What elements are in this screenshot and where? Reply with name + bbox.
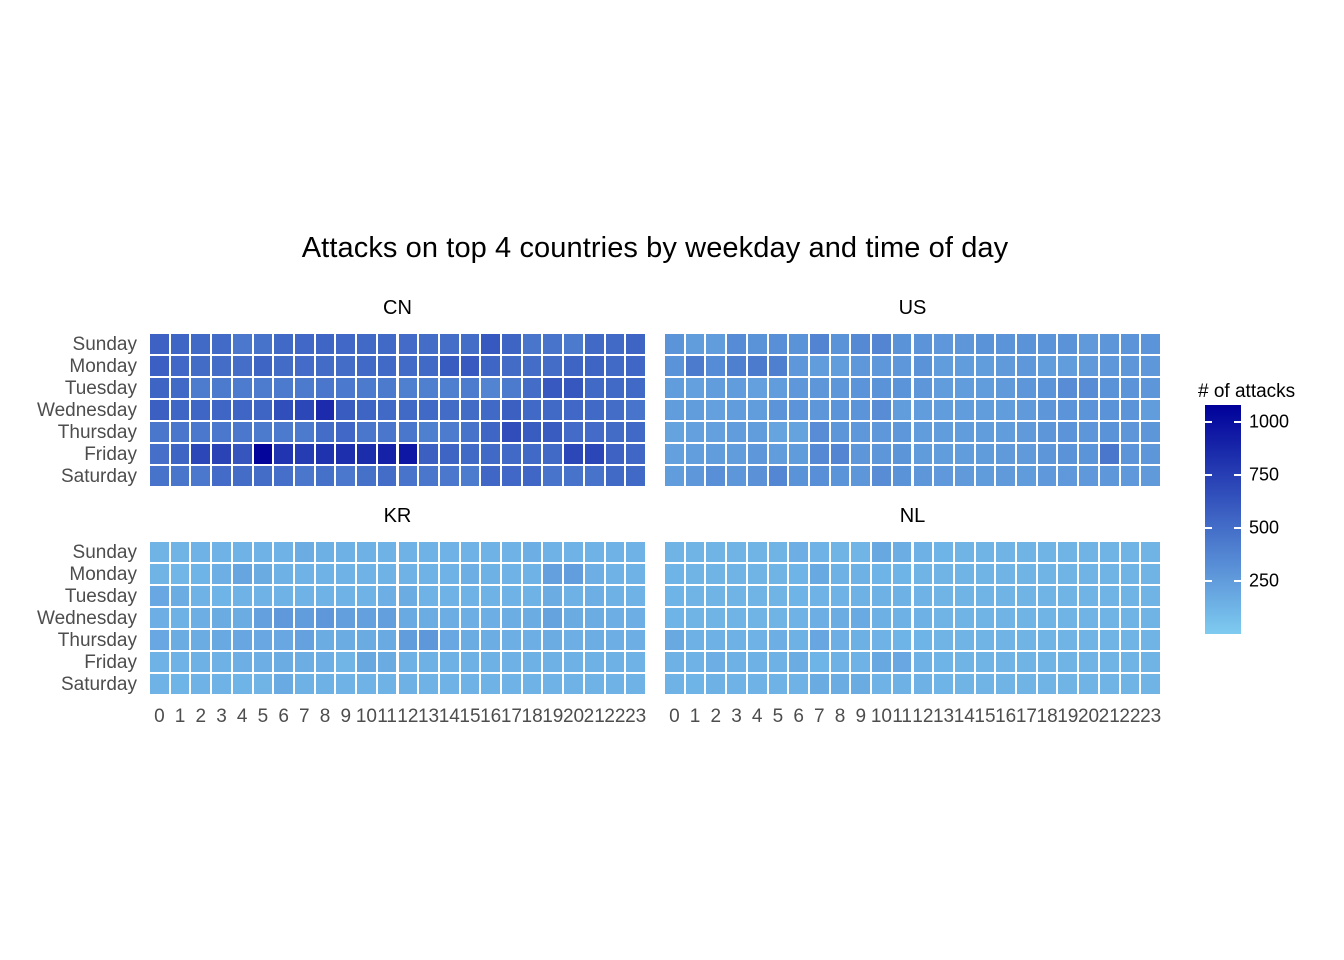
heatmap-row [149, 607, 646, 629]
heatmap-cell [685, 377, 706, 399]
heatmap-cell [315, 673, 336, 695]
heatmap-cell [418, 443, 439, 465]
heatmap-cell [542, 541, 563, 563]
heatmap-cell [501, 443, 522, 465]
heatmap-cell [253, 563, 274, 585]
heatmap-cell [377, 563, 398, 585]
heatmap-cell [190, 355, 211, 377]
heatmap-row [149, 673, 646, 695]
heatmap-cell [788, 421, 809, 443]
heatmap-cell [398, 333, 419, 355]
heatmap-cell [211, 673, 232, 695]
heatmap-cell [377, 607, 398, 629]
heatmap-cell [747, 333, 768, 355]
heatmap-cell [315, 651, 336, 673]
heatmap-cell [995, 377, 1016, 399]
heatmap-cell [685, 585, 706, 607]
heatmap-cell [149, 421, 170, 443]
heatmap-cell [1120, 673, 1141, 695]
heatmap-cell [871, 465, 892, 487]
heatmap-row [149, 651, 646, 673]
heatmap-cell [253, 541, 274, 563]
heatmap-cell [1120, 333, 1141, 355]
heatmap-cell [149, 333, 170, 355]
heatmap-cell [605, 355, 626, 377]
heatmap-cell [584, 377, 605, 399]
heatmap-cell [294, 629, 315, 651]
x-axis-label-hour-23: 23 [1130, 707, 1171, 726]
legend-tick-mark [1234, 474, 1241, 476]
heatmap-cell [1120, 465, 1141, 487]
heatmap-cell [542, 443, 563, 465]
heatmap-cell [747, 465, 768, 487]
heatmap-cell [1078, 607, 1099, 629]
heatmap-cell [1120, 399, 1141, 421]
heatmap-cell [995, 421, 1016, 443]
heatmap-row [664, 607, 1161, 629]
heatmap-cell [933, 421, 954, 443]
heatmap-cell [954, 541, 975, 563]
heatmap-cell [1099, 629, 1120, 651]
heatmap-cell [685, 421, 706, 443]
legend-tick-mark [1234, 580, 1241, 582]
legend-tick-mark [1234, 421, 1241, 423]
heatmap-cell [809, 333, 830, 355]
facet-title-cn: CN [149, 297, 646, 320]
heatmap-cell [913, 333, 934, 355]
heatmap-cell [1099, 651, 1120, 673]
heatmap-cell [726, 585, 747, 607]
heatmap-cell [954, 563, 975, 585]
heatmap-cell [211, 541, 232, 563]
heatmap-cell [542, 399, 563, 421]
heatmap-cell [747, 421, 768, 443]
heatmap-cell [788, 355, 809, 377]
heatmap-cell [418, 585, 439, 607]
heatmap-cell [975, 443, 996, 465]
heatmap-cell [439, 333, 460, 355]
heatmap-cell [625, 629, 646, 651]
heatmap-cell [892, 563, 913, 585]
heatmap-row [664, 541, 1161, 563]
heatmap-cell [913, 563, 934, 585]
heatmap-cell [294, 465, 315, 487]
y-axis-label-friday: Friday [0, 445, 137, 464]
heatmap-cell [625, 563, 646, 585]
heatmap-cell [705, 629, 726, 651]
heatmap-cell [273, 651, 294, 673]
heatmap-row [149, 377, 646, 399]
heatmap-cell [995, 355, 1016, 377]
heatmap-cell [1037, 585, 1058, 607]
heatmap-cell [850, 465, 871, 487]
heatmap-cell [294, 443, 315, 465]
heatmap-cell [850, 563, 871, 585]
heatmap-cell [933, 651, 954, 673]
heatmap-cell [685, 607, 706, 629]
heatmap-cell [975, 651, 996, 673]
heatmap-cell [315, 355, 336, 377]
heatmap-cell [685, 629, 706, 651]
heatmap-cell [501, 563, 522, 585]
heatmap-cell [522, 399, 543, 421]
heatmap-cell [788, 399, 809, 421]
heatmap-cell [253, 673, 274, 695]
heatmap-cell [1078, 443, 1099, 465]
heatmap-cell [685, 465, 706, 487]
heatmap-cell [356, 629, 377, 651]
heatmap-cell [563, 607, 584, 629]
heatmap-cell [1057, 421, 1078, 443]
y-axis-label-saturday: Saturday [0, 467, 137, 486]
heatmap-cell [584, 355, 605, 377]
heatmap-cell [954, 355, 975, 377]
heatmap-cell [850, 443, 871, 465]
heatmap-cell [1078, 377, 1099, 399]
heatmap-cell [809, 607, 830, 629]
heatmap-cell [398, 629, 419, 651]
heatmap-cell [170, 465, 191, 487]
heatmap-cell [315, 629, 336, 651]
heatmap-cell [522, 333, 543, 355]
heatmap-cell [995, 333, 1016, 355]
heatmap-cell [809, 673, 830, 695]
heatmap-cell [975, 541, 996, 563]
heatmap-cell [913, 651, 934, 673]
heatmap-cell [149, 585, 170, 607]
heatmap-cell [501, 607, 522, 629]
heatmap-cell [232, 355, 253, 377]
heatmap-cell [954, 651, 975, 673]
heatmap-cell [480, 377, 501, 399]
heatmap-cell [418, 563, 439, 585]
heatmap-cell [356, 465, 377, 487]
heatmap-cell [809, 443, 830, 465]
heatmap-cell [418, 355, 439, 377]
heatmap-cell [871, 443, 892, 465]
heatmap-cell [913, 673, 934, 695]
heatmap-cell [170, 443, 191, 465]
y-axis-label-monday: Monday [0, 565, 137, 584]
heatmap-cell [232, 443, 253, 465]
heatmap-cell [335, 629, 356, 651]
heatmap-cell [705, 585, 726, 607]
heatmap-cell [418, 629, 439, 651]
heatmap-cell [356, 607, 377, 629]
heatmap-cell [501, 673, 522, 695]
heatmap-cell [788, 673, 809, 695]
heatmap-row [149, 355, 646, 377]
heatmap-cell [726, 563, 747, 585]
heatmap-cell [747, 629, 768, 651]
heatmap-cell [664, 541, 685, 563]
heatmap-cell [170, 585, 191, 607]
heatmap-cell [460, 629, 481, 651]
heatmap-cell [1057, 355, 1078, 377]
heatmap-cell [170, 377, 191, 399]
heatmap-cell [871, 629, 892, 651]
heatmap-row [664, 651, 1161, 673]
heatmap-cell [892, 541, 913, 563]
heatmap-cell [232, 563, 253, 585]
heatmap-cell [398, 651, 419, 673]
heatmap-cell [232, 421, 253, 443]
heatmap-cell [788, 607, 809, 629]
heatmap-cell [664, 333, 685, 355]
heatmap-cell [335, 651, 356, 673]
heatmap-cell [211, 651, 232, 673]
heatmap-cell [1099, 585, 1120, 607]
heatmap-cell [190, 607, 211, 629]
heatmap-cell [190, 673, 211, 695]
heatmap-cell [1016, 355, 1037, 377]
heatmap-cell [439, 607, 460, 629]
heatmap-cell [625, 607, 646, 629]
heatmap-cell [605, 607, 626, 629]
heatmap-cell [398, 563, 419, 585]
heatmap-cell [377, 673, 398, 695]
heatmap-cell [850, 673, 871, 695]
heatmap-cell [149, 607, 170, 629]
heatmap-cell [1037, 629, 1058, 651]
heatmap-cell [975, 563, 996, 585]
heatmap-cell [253, 355, 274, 377]
heatmap-cell [768, 355, 789, 377]
heatmap-cell [726, 465, 747, 487]
heatmap-cell [480, 651, 501, 673]
heatmap-cell [335, 585, 356, 607]
heatmap-cell [149, 399, 170, 421]
heatmap-cell [830, 541, 851, 563]
heatmap-cell [253, 465, 274, 487]
heatmap-cell [995, 465, 1016, 487]
heatmap-cell [542, 355, 563, 377]
heatmap-cell [1078, 465, 1099, 487]
heatmap-cell [460, 465, 481, 487]
heatmap-cell [768, 443, 789, 465]
heatmap-cell [522, 443, 543, 465]
heatmap-cell [747, 377, 768, 399]
heatmap-cell [954, 629, 975, 651]
heatmap-cell [726, 421, 747, 443]
heatmap-cell [439, 629, 460, 651]
heatmap-cell [522, 355, 543, 377]
heatmap-cell [211, 629, 232, 651]
heatmap-cell [995, 443, 1016, 465]
heatmap-cell [501, 629, 522, 651]
heatmap-cell [522, 563, 543, 585]
heatmap-cell [1140, 563, 1161, 585]
heatmap-cell [315, 377, 336, 399]
heatmap-cell [584, 421, 605, 443]
heatmap-cell [830, 563, 851, 585]
heatmap-cell [480, 673, 501, 695]
heatmap-cell [211, 443, 232, 465]
heatmap-cell [501, 399, 522, 421]
legend-tick-mark [1205, 421, 1212, 423]
heatmap-cell [933, 377, 954, 399]
heatmap-cell [522, 651, 543, 673]
heatmap-cell [418, 421, 439, 443]
heatmap-cell [460, 673, 481, 695]
y-axis-label-thursday: Thursday [0, 423, 137, 442]
heatmap-cell [190, 651, 211, 673]
heatmap-cell [1057, 465, 1078, 487]
heatmap-cell [211, 399, 232, 421]
heatmap-cell [1037, 541, 1058, 563]
heatmap-cell [398, 355, 419, 377]
heatmap-cell [892, 421, 913, 443]
heatmap-cell [995, 673, 1016, 695]
heatmap-cell [747, 443, 768, 465]
heatmap-cell [830, 421, 851, 443]
heatmap-cell [726, 629, 747, 651]
heatmap-panel-cn [149, 333, 646, 487]
heatmap-cell [563, 465, 584, 487]
x-axis-label-hour-23: 23 [615, 707, 656, 726]
heatmap-cell [605, 541, 626, 563]
heatmap-cell [995, 629, 1016, 651]
heatmap-cell [253, 333, 274, 355]
heatmap-cell [377, 377, 398, 399]
facet-title-us: US [664, 297, 1161, 320]
heatmap-cell [335, 563, 356, 585]
heatmap-cell [625, 443, 646, 465]
heatmap-cell [788, 651, 809, 673]
heatmap-cell [377, 585, 398, 607]
heatmap-cell [501, 465, 522, 487]
heatmap-row [149, 333, 646, 355]
heatmap-cell [335, 541, 356, 563]
heatmap-cell [605, 673, 626, 695]
heatmap-cell [439, 355, 460, 377]
heatmap-cell [273, 585, 294, 607]
heatmap-cell [418, 465, 439, 487]
heatmap-cell [190, 465, 211, 487]
heatmap-cell [232, 399, 253, 421]
heatmap-cell [625, 355, 646, 377]
heatmap-cell [871, 673, 892, 695]
y-axis-label-monday: Monday [0, 357, 137, 376]
heatmap-cell [398, 443, 419, 465]
heatmap-row [664, 673, 1161, 695]
heatmap-cell [170, 421, 191, 443]
heatmap-cell [273, 421, 294, 443]
heatmap-cell [190, 377, 211, 399]
heatmap-cell [850, 585, 871, 607]
heatmap-cell [480, 607, 501, 629]
heatmap-cell [149, 651, 170, 673]
heatmap-cell [211, 377, 232, 399]
heatmap-cell [1016, 541, 1037, 563]
heatmap-cell [315, 563, 336, 585]
heatmap-cell [913, 629, 934, 651]
heatmap-cell [747, 541, 768, 563]
heatmap-cell [995, 541, 1016, 563]
heatmap-cell [273, 377, 294, 399]
heatmap-cell [418, 607, 439, 629]
heatmap-cell [892, 585, 913, 607]
heatmap-row [664, 333, 1161, 355]
heatmap-cell [892, 673, 913, 695]
legend-tick-mark [1234, 527, 1241, 529]
heatmap-cell [377, 355, 398, 377]
heatmap-cell [1140, 421, 1161, 443]
heatmap-cell [315, 607, 336, 629]
y-axis-label-sunday: Sunday [0, 335, 137, 354]
heatmap-cell [149, 355, 170, 377]
heatmap-cell [1140, 673, 1161, 695]
heatmap-cell [664, 443, 685, 465]
heatmap-cell [211, 355, 232, 377]
heatmap-cell [480, 563, 501, 585]
heatmap-row [149, 563, 646, 585]
heatmap-cell [356, 563, 377, 585]
heatmap-cell [170, 651, 191, 673]
heatmap-cell [1016, 629, 1037, 651]
heatmap-cell [273, 673, 294, 695]
heatmap-cell [522, 607, 543, 629]
heatmap-cell [1099, 355, 1120, 377]
heatmap-cell [1078, 421, 1099, 443]
heatmap-cell [830, 465, 851, 487]
heatmap-cell [625, 541, 646, 563]
heatmap-cell [747, 563, 768, 585]
heatmap-cell [398, 585, 419, 607]
heatmap-cell [294, 333, 315, 355]
heatmap-cell [1037, 607, 1058, 629]
heatmap-cell [726, 443, 747, 465]
heatmap-cell [871, 355, 892, 377]
heatmap-cell [1057, 563, 1078, 585]
heatmap-cell [809, 355, 830, 377]
heatmap-cell [726, 607, 747, 629]
heatmap-cell [1078, 563, 1099, 585]
heatmap-cell [377, 629, 398, 651]
heatmap-cell [149, 541, 170, 563]
y-axis-label-thursday: Thursday [0, 631, 137, 650]
heatmap-cell [625, 465, 646, 487]
heatmap-cell [418, 377, 439, 399]
heatmap-cell [933, 541, 954, 563]
heatmap-cell [190, 629, 211, 651]
heatmap-cell [356, 673, 377, 695]
heatmap-cell [1016, 443, 1037, 465]
heatmap-cell [542, 629, 563, 651]
heatmap-cell [273, 607, 294, 629]
heatmap-cell [933, 585, 954, 607]
heatmap-cell [809, 585, 830, 607]
heatmap-cell [460, 355, 481, 377]
heatmap-cell [1078, 651, 1099, 673]
heatmap-cell [294, 651, 315, 673]
heatmap-cell [1037, 355, 1058, 377]
heatmap-cell [605, 421, 626, 443]
heatmap-cell [335, 399, 356, 421]
heatmap-cell [563, 585, 584, 607]
heatmap-cell [871, 607, 892, 629]
legend-tick-label-500: 500 [1249, 517, 1279, 538]
heatmap-cell [315, 541, 336, 563]
heatmap-cell [522, 673, 543, 695]
heatmap-cell [664, 673, 685, 695]
heatmap-cell [563, 563, 584, 585]
heatmap-cell [356, 585, 377, 607]
heatmap-cell [1140, 607, 1161, 629]
heatmap-cell [542, 673, 563, 695]
heatmap-cell [664, 629, 685, 651]
heatmap-cell [705, 673, 726, 695]
